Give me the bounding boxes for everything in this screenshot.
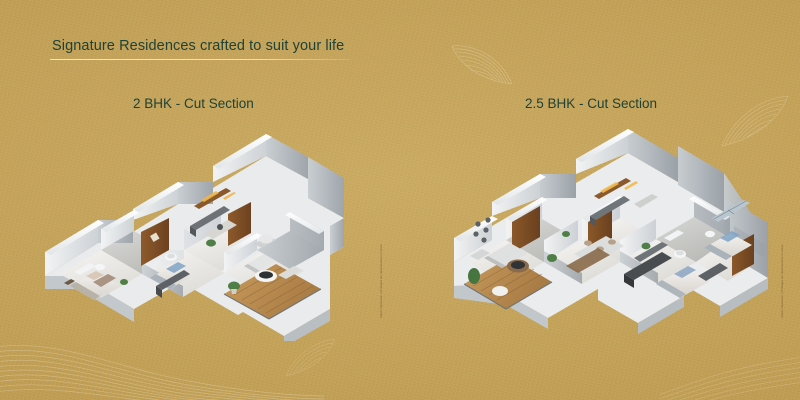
feather-icon bbox=[283, 336, 339, 380]
wave-decoration bbox=[660, 348, 800, 400]
feather-icon bbox=[448, 40, 518, 90]
page-headline: Signature Residences crafted to suit you… bbox=[52, 38, 344, 54]
floor-plan-render-2bhk bbox=[38, 126, 368, 341]
disclaimer-note-2bhk: Artistic impression | All images are rep… bbox=[380, 186, 383, 318]
plan-title-25bhk: 2.5 BHK - Cut Section bbox=[525, 96, 657, 111]
headline-underline bbox=[50, 59, 350, 60]
brochure-page: Signature Residences crafted to suit you… bbox=[0, 0, 800, 400]
plan-title-2bhk: 2 BHK - Cut Section bbox=[133, 96, 254, 111]
floor-plan-render-25bhk bbox=[448, 126, 788, 341]
